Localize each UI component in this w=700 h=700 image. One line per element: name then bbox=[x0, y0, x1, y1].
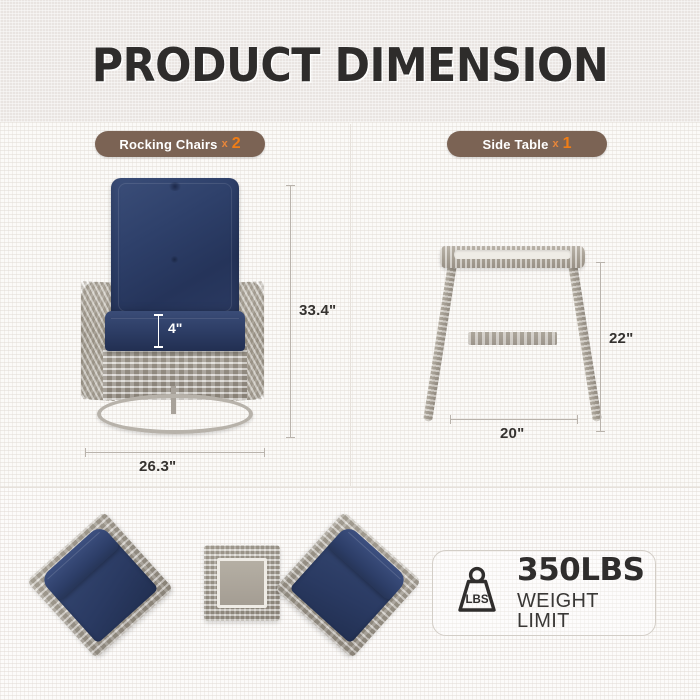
weight-limit-texts: 350LBS WEIGHT LIMIT bbox=[517, 555, 644, 631]
badge-rocking-chairs-multiplier: x bbox=[222, 138, 228, 150]
horizontal-divider bbox=[0, 487, 700, 488]
chair-swivel-ring-base bbox=[97, 394, 253, 434]
product-dimension-poster: PRODUCT DIMENSION Rocking Chairs x 2 Sid… bbox=[0, 0, 700, 700]
weight-limit-badge: LBS 350LBS WEIGHT LIMIT bbox=[432, 550, 656, 636]
vertical-divider bbox=[350, 124, 351, 486]
badge-rocking-chairs-quantity: 2 bbox=[232, 135, 241, 153]
side-table-front-illustration bbox=[440, 246, 585, 430]
top-down-side-table-inner bbox=[217, 558, 267, 608]
weight-icon: LBS bbox=[451, 565, 503, 622]
badge-rocking-chairs-label: Rocking Chairs bbox=[119, 137, 217, 152]
chair-height-label: 33.4" bbox=[299, 302, 336, 319]
chair-back-cushion bbox=[111, 178, 239, 318]
top-down-side-table bbox=[204, 545, 280, 621]
side-table-height-label: 22" bbox=[609, 330, 633, 347]
chair-width-label: 26.3" bbox=[139, 458, 176, 475]
side-table-width-label: 20" bbox=[500, 425, 524, 442]
page-title: PRODUCT DIMENSION bbox=[25, 38, 676, 92]
badge-side-table-multiplier: x bbox=[553, 138, 559, 150]
weight-limit-caption: WEIGHT LIMIT bbox=[517, 591, 644, 631]
cushion-thickness-dimension-line bbox=[158, 314, 159, 348]
badge-rocking-chairs: Rocking Chairs x 2 bbox=[95, 131, 265, 157]
cushion-thickness-label: 4" bbox=[168, 320, 182, 336]
badge-side-table-quantity: 1 bbox=[563, 135, 572, 153]
side-table-height-dimension-line bbox=[600, 262, 601, 432]
weight-icon-text: LBS bbox=[466, 594, 489, 606]
side-table-stretcher bbox=[468, 332, 557, 345]
side-table-width-dimension-line bbox=[450, 419, 578, 420]
side-table-top-inner-panel bbox=[454, 250, 571, 259]
chair-width-dimension-line bbox=[85, 452, 265, 453]
chair-back-cushion-top-tuft bbox=[168, 182, 182, 191]
badge-side-table-label: Side Table bbox=[482, 137, 548, 152]
weight-limit-value: 350LBS bbox=[517, 555, 644, 586]
badge-side-table: Side Table x 1 bbox=[447, 131, 607, 157]
chair-back-cushion-tuft bbox=[170, 256, 179, 263]
rocking-chair-front-illustration: 4" bbox=[75, 178, 270, 440]
chair-height-dimension-line bbox=[290, 185, 291, 438]
